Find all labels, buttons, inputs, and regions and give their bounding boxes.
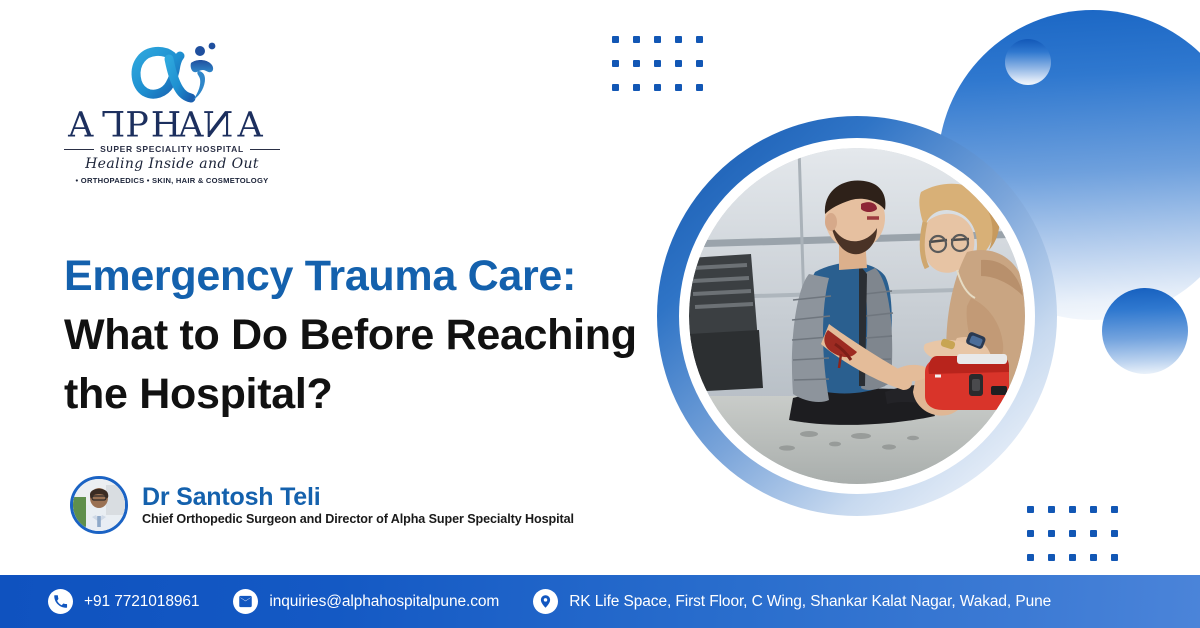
author-name: Dr Santosh Teli bbox=[142, 484, 574, 512]
decor-dot bbox=[654, 84, 661, 91]
author-text: Dr Santosh Teli Chief Orthopedic Surgeon… bbox=[142, 484, 574, 527]
logo-divider-row: SUPER SPECIALITY HOSPITAL bbox=[62, 144, 282, 154]
doctor-portrait-icon bbox=[73, 479, 125, 531]
svg-text:Γ: Γ bbox=[100, 106, 125, 142]
decor-dot bbox=[612, 36, 619, 43]
svg-text:A: A bbox=[237, 106, 264, 142]
email-icon bbox=[233, 589, 258, 614]
decor-dot bbox=[1048, 554, 1055, 561]
decor-dot bbox=[633, 84, 640, 91]
decor-circle-medium bbox=[1102, 288, 1188, 374]
logo-subtitle: SUPER SPECIALITY HOSPITAL bbox=[100, 144, 244, 154]
decor-dot bbox=[675, 84, 682, 91]
decor-dot bbox=[675, 36, 682, 43]
decor-dot bbox=[1027, 530, 1034, 537]
decor-dot-grid-top bbox=[612, 36, 717, 108]
decor-dot bbox=[1090, 554, 1097, 561]
decor-dot bbox=[1069, 530, 1076, 537]
contact-footer: +91 7721018961 inquiries@alphahospitalpu… bbox=[0, 575, 1200, 628]
decor-dot bbox=[1027, 554, 1034, 561]
divider-right bbox=[250, 149, 280, 150]
decor-circle-small bbox=[1005, 39, 1051, 85]
svg-text:A: A bbox=[67, 106, 94, 142]
footer-address[interactable]: RK Life Space, First Floor, C Wing, Shan… bbox=[533, 589, 1051, 614]
decor-dot bbox=[654, 36, 661, 43]
decor-dot bbox=[696, 84, 703, 91]
decor-dot bbox=[1048, 530, 1055, 537]
headline-accent: Emergency Trauma Care: bbox=[64, 252, 576, 300]
decor-dot-grid-bottom bbox=[1027, 506, 1132, 578]
page-title: Emergency Trauma Care: What to Do Before… bbox=[64, 247, 654, 425]
footer-address-text: RK Life Space, First Floor, C Wing, Shan… bbox=[569, 593, 1051, 611]
footer-email[interactable]: inquiries@alphahospitalpune.com bbox=[233, 589, 499, 614]
decor-dot bbox=[675, 60, 682, 67]
decor-dot bbox=[654, 60, 661, 67]
footer-phone[interactable]: +91 7721018961 bbox=[48, 589, 199, 614]
hero-image-ring bbox=[657, 116, 1057, 516]
decor-dot bbox=[1090, 530, 1097, 537]
svg-text:N: N bbox=[202, 106, 234, 142]
divider-left bbox=[64, 149, 94, 150]
footer-email-text: inquiries@alphahospitalpune.com bbox=[269, 593, 499, 611]
headline-rest: What to Do Before Reaching the Hospital? bbox=[64, 311, 637, 418]
svg-text:P: P bbox=[125, 106, 150, 142]
first-aid-scene-illustration bbox=[689, 148, 1025, 484]
brand-logo[interactable]: A Γ P H A N A SUPER SPECIALITY HOSPITAL … bbox=[62, 42, 282, 185]
logo-specialties: • ORTHOPAEDICS • SKIN, HAIR & COSMETOLOG… bbox=[62, 176, 282, 185]
author-block: Dr Santosh Teli Chief Orthopedic Surgeon… bbox=[70, 476, 574, 534]
hero-image-inner-ring bbox=[679, 138, 1035, 494]
promo-banner: A Γ P H A N A SUPER SPECIALITY HOSPITAL … bbox=[0, 0, 1200, 628]
footer-phone-text: +91 7721018961 bbox=[84, 593, 199, 611]
author-role: Chief Orthopedic Surgeon and Director of… bbox=[142, 512, 574, 526]
decor-dot bbox=[1069, 506, 1076, 513]
decor-dot bbox=[1027, 506, 1034, 513]
decor-dot bbox=[1048, 506, 1055, 513]
svg-text:A: A bbox=[177, 106, 204, 142]
location-pin-icon bbox=[533, 589, 558, 614]
alpha-figure-icon bbox=[112, 42, 232, 104]
logo-tagline: Healing Inside and Out bbox=[62, 156, 282, 172]
phone-icon bbox=[48, 589, 73, 614]
alpha-wordmark: A Γ P H A N A bbox=[66, 106, 278, 142]
decor-dot bbox=[1111, 554, 1118, 561]
decor-dot bbox=[612, 84, 619, 91]
decor-dot bbox=[633, 36, 640, 43]
decor-dot bbox=[1069, 554, 1076, 561]
hero-photo bbox=[689, 148, 1025, 484]
decor-dot bbox=[696, 60, 703, 67]
decor-dot bbox=[612, 60, 619, 67]
decor-dot bbox=[1111, 506, 1118, 513]
decor-dot bbox=[1111, 530, 1118, 537]
decor-dot bbox=[696, 36, 703, 43]
decor-dot bbox=[633, 60, 640, 67]
decor-dot bbox=[1090, 506, 1097, 513]
avatar bbox=[70, 476, 128, 534]
